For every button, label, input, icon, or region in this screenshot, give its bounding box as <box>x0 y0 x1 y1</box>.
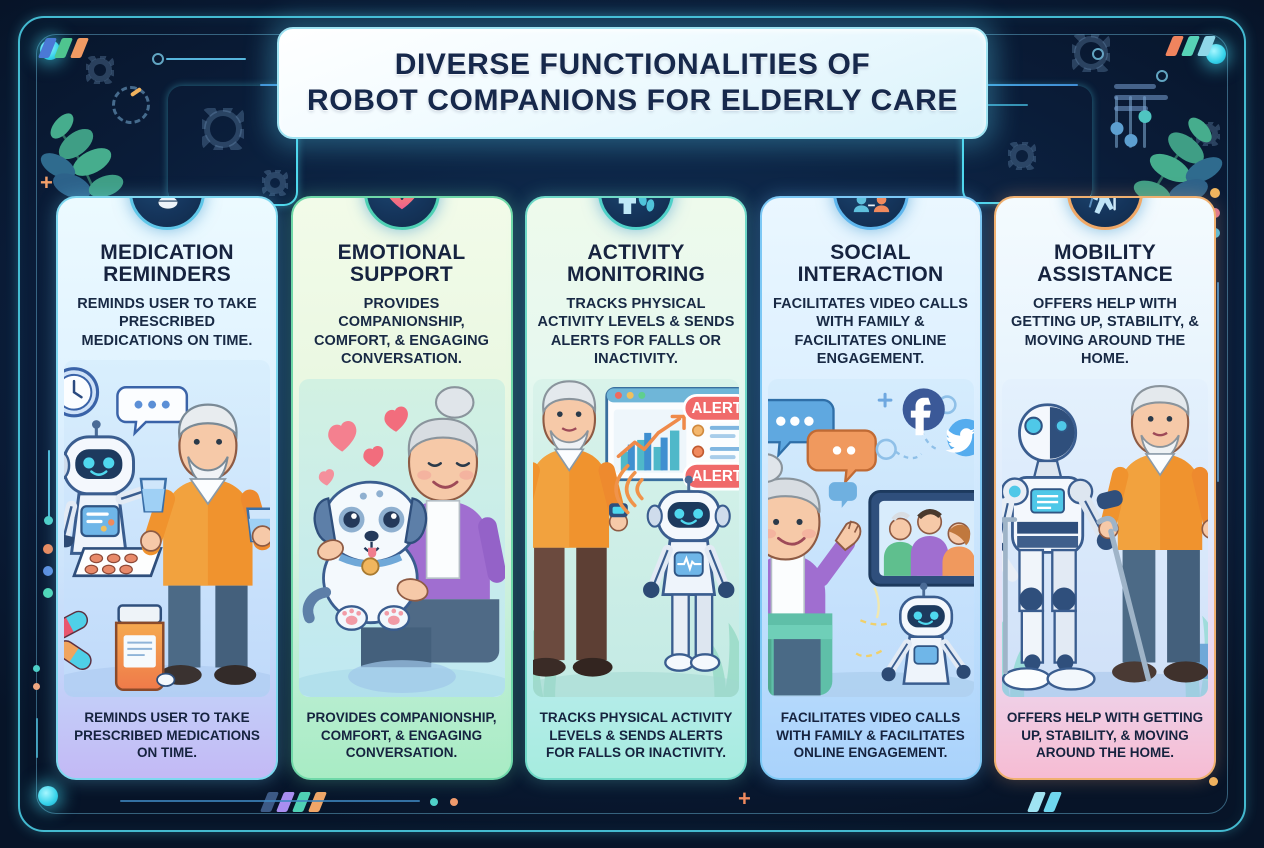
glow-dot-top-right <box>1206 44 1226 64</box>
alert-badge-1: ALERT <box>691 400 739 417</box>
circuit-node-left <box>152 53 164 65</box>
menu-lines-icon <box>1114 84 1168 111</box>
circuit-node-right-2 <box>1156 70 1168 82</box>
infographic-canvas: + + <box>0 0 1264 848</box>
panel-activity-monitoring[interactable]: ACTIVITY MONITORING TRACKS PHYSICAL ACTI… <box>525 196 747 780</box>
gear-icon-3 <box>264 172 286 194</box>
rail-dot-peach <box>33 683 40 690</box>
chat-bubbles-people-icon <box>848 196 894 215</box>
bottom-rail-line <box>120 800 420 802</box>
left-rail-line-bottom <box>36 718 38 758</box>
plus-mark-left: + <box>40 172 53 194</box>
illustration-social <box>768 379 974 698</box>
panel-description: TRACKS PHYSICAL ACTIVITY LEVELS & SENDS … <box>537 295 735 369</box>
panel-caption: OFFERS HELP WITH GETTING UP, STABILITY, … <box>996 697 1214 778</box>
panel-description: REMINDS USER TO TAKE PRESCRIBED MEDICATI… <box>68 295 266 351</box>
panel-mobility-assistance[interactable]: MOBILITY ASSISTANCE OFFERS HELP WITH GET… <box>994 196 1216 780</box>
panel-row: MEDICATION REMINDERS REMINDS USER TO TAK… <box>56 196 1216 780</box>
panel-caption: PROVIDES COMPANIONSHIP, COMFORT, & ENGAG… <box>293 697 511 778</box>
illustration-emotional <box>299 379 505 698</box>
title-banner: DIVERSE FUNCTIONALITIES OF ROBOT COMPANI… <box>277 27 988 139</box>
panel-description: FACILITATES VIDEO CALLS WITH FAMILY & FA… <box>772 295 970 369</box>
alert-badge-2: ALERT <box>691 468 739 485</box>
dash-marks-top-left <box>38 38 89 58</box>
rail-dot-blue <box>43 566 53 576</box>
glow-dot-top-left <box>40 40 60 60</box>
page-title-line-2: ROBOT COMPANIONS FOR ELDERLY CARE <box>307 84 958 118</box>
walking-person-cane-icon <box>1082 196 1128 215</box>
right-rail-line <box>1217 282 1219 482</box>
glow-dot-bottom-left <box>38 786 58 806</box>
rail-dot-teal-2 <box>43 588 53 598</box>
illustration-medication <box>64 360 270 697</box>
panel-medication-reminders[interactable]: MEDICATION REMINDERS REMINDS USER TO TAK… <box>56 196 278 780</box>
panel-caption: FACILITATES VIDEO CALLS WITH FAMILY & FA… <box>762 697 980 778</box>
panel-title: ACTIVITY MONITORING <box>537 242 735 287</box>
rail-dot-teal-1 <box>44 516 53 525</box>
circuit-node-right-1 <box>1092 48 1104 60</box>
panel-emotional-support[interactable]: EMOTIONAL SUPPORT PROVIDES COMPANIONSHIP… <box>291 196 513 780</box>
circuit-line-node-left <box>166 58 246 60</box>
illustration-activity: ALERT ALERT <box>533 379 739 698</box>
panel-title: MEDICATION REMINDERS <box>68 242 266 287</box>
illustration-mobility <box>1002 379 1208 698</box>
rail-dot-orange <box>43 544 53 554</box>
dial-indicator-icon <box>112 86 150 124</box>
bottom-dot-teal <box>430 798 438 806</box>
panel-description: OFFERS HELP WITH GETTING UP, STABILITY, … <box>1006 295 1204 369</box>
panel-title: EMOTIONAL SUPPORT <box>303 242 501 287</box>
gear-icon-6 <box>1198 124 1218 144</box>
gear-icon-5 <box>1010 144 1034 168</box>
dash-marks-bottom-right <box>1027 792 1062 812</box>
panel-social-interaction[interactable]: SOCIAL INTERACTION FACILITATES VIDEO CAL… <box>760 196 982 780</box>
slider-controls-icon <box>1115 96 1146 148</box>
dial-needle <box>130 87 142 97</box>
panel-caption: TRACKS PHYSICAL ACTIVITY LEVELS & SENDS … <box>527 697 745 778</box>
page-title-line-1: DIVERSE FUNCTIONALITIES OF <box>395 48 871 82</box>
panel-description: PROVIDES COMPANIONSHIP, COMFORT, & ENGAG… <box>303 295 501 369</box>
panel-title: MOBILITY ASSISTANCE <box>1006 242 1204 287</box>
plus-mark-bottom: + <box>738 788 751 810</box>
pill-clock-icon <box>144 196 190 215</box>
dash-marks-top-right <box>1165 36 1216 56</box>
dash-marks-bottom-center <box>260 792 327 812</box>
gear-icon-2 <box>204 110 242 148</box>
leaf-cluster-left <box>28 82 158 212</box>
rail-dot-teal-3 <box>33 665 40 672</box>
gear-icon-4 <box>1074 36 1108 70</box>
panel-title: SOCIAL INTERACTION <box>772 242 970 287</box>
person-heartbeat-footsteps-icon <box>613 196 659 215</box>
gear-icon-1 <box>88 58 112 82</box>
bottom-dot-orange <box>450 798 458 806</box>
left-rail-line-top <box>48 450 50 520</box>
panel-caption: REMINDS USER TO TAKE PRESCRIBED MEDICATI… <box>58 697 276 778</box>
heart-pulse-icon <box>379 196 425 215</box>
